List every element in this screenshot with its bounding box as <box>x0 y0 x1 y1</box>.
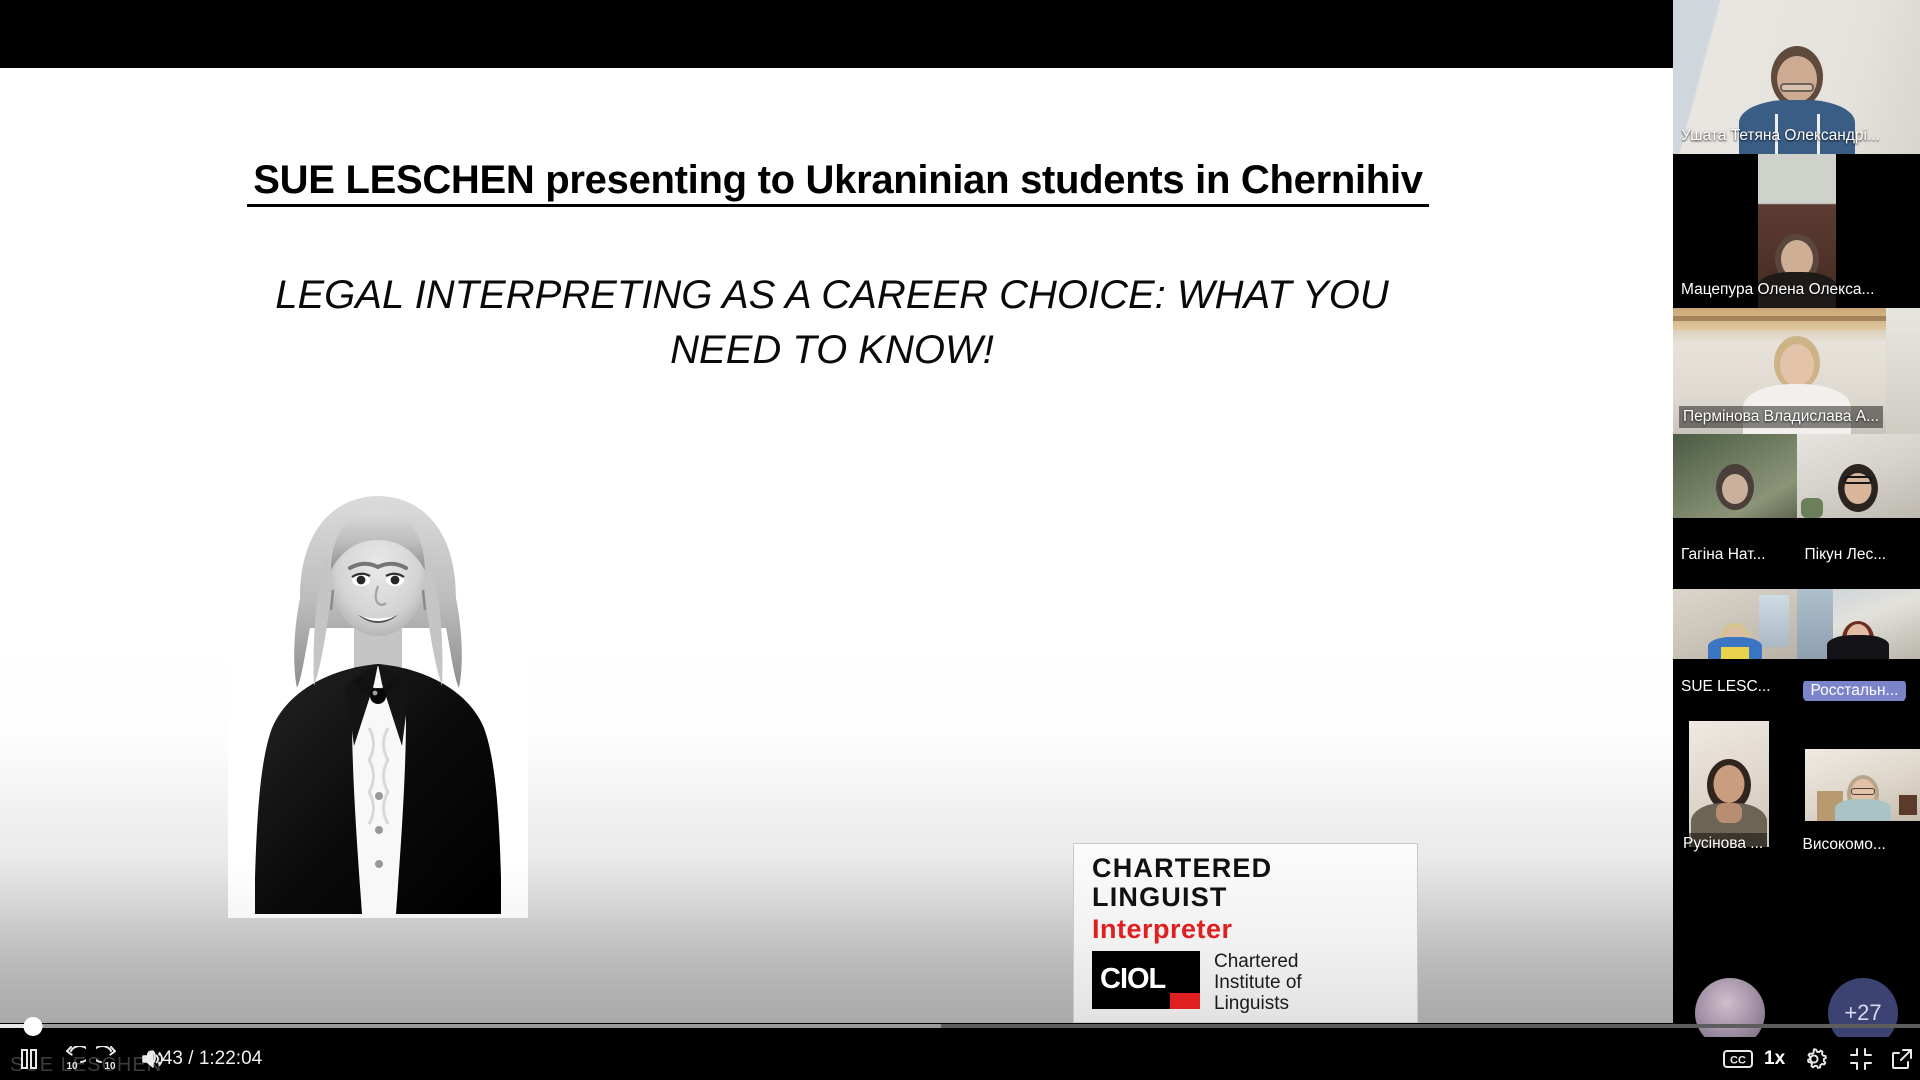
participant-tile-2[interactable]: Мацепура Олена Олекса... <box>1673 154 1920 308</box>
participant-name-5a: SUE LESC... <box>1681 677 1771 697</box>
ciol-mark-block: CIOL Chartered Institute of Linguists <box>1092 951 1399 1014</box>
slide-title-underline <box>247 204 1429 207</box>
participant-tile-5[interactable]: SUE LESC... Росстальн... <box>1673 589 1920 717</box>
participant-name-4a: Гагіна Нат... <box>1681 545 1766 565</box>
ciol-line-2: LINGUIST <box>1092 883 1399 912</box>
slide-subtitle: LEGAL INTERPRETING AS A CAREER CHOICE: W… <box>232 268 1432 378</box>
participant-video-5b[interactable]: Росстальн... <box>1797 589 1920 717</box>
participant-tile-1[interactable]: Ушата Тетяна Олександрі... <box>1673 0 1920 154</box>
svg-text:10: 10 <box>104 1061 116 1072</box>
presentation-slide: SUE LESCHEN presenting to Ukraninian stu… <box>0 68 1673 1023</box>
participant-name-3: Пермінова Владислава А... <box>1679 406 1883 428</box>
ciol-chartered-linguist-logo: CHARTERED LINGUIST Interpreter CIOL Char… <box>1073 843 1418 1023</box>
ciol-logomark-text: CIOL <box>1100 963 1165 996</box>
ciol-org-line-2: Institute of <box>1214 972 1302 993</box>
player-control-bar: SUE LESCHEN 10 10 <box>0 1037 1920 1080</box>
participant-tile-6[interactable]: Русінова ... Високомо... <box>1673 717 1920 875</box>
ciol-red-square <box>1170 993 1200 1009</box>
participant-name-4b: Пікун Лес... <box>1805 545 1887 565</box>
rewind-10-icon[interactable]: 10 <box>58 1046 86 1072</box>
participant-tile-4[interactable]: Гагіна Нат... Пікун Лес... <box>1673 434 1920 589</box>
active-speaker-badge: Росстальн... <box>1803 681 1907 701</box>
seek-bar-buffer <box>0 1024 941 1028</box>
playback-speed-button[interactable]: 1x <box>1764 1048 1785 1070</box>
participant-name-1: Ушата Тетяна Олександрі... <box>1681 126 1880 146</box>
forward-10-icon[interactable]: 10 <box>96 1046 124 1072</box>
participant-video-5a[interactable]: SUE LESC... <box>1673 589 1797 717</box>
time-display: 0:43 / 1:22:04 <box>146 1048 262 1070</box>
participant-name-5b-wrapper: Росстальн... <box>1803 681 1907 701</box>
participant-video-4b[interactable]: Пікун Лес... <box>1797 434 1920 589</box>
participant-name-6b: Високомо... <box>1803 835 1886 855</box>
slide-title: SUE LESCHEN presenting to Ukraninian stu… <box>248 158 1428 203</box>
ciol-qualification: Interpreter <box>1092 914 1399 944</box>
ciol-org-line-1: Chartered <box>1214 951 1302 972</box>
pause-button[interactable] <box>18 1047 40 1071</box>
svg-text:CC: CC <box>1730 1054 1746 1066</box>
gear-icon[interactable] <box>1801 1046 1827 1072</box>
video-player-window: SUE LESCHEN presenting to Ukraninian stu… <box>0 0 1920 1080</box>
svg-text:10: 10 <box>66 1061 78 1072</box>
participant-video-4a[interactable]: Гагіна Нат... <box>1673 434 1797 589</box>
participant-name-2: Мацепура Олена Олекса... <box>1681 280 1874 300</box>
speaker-portrait-photo <box>228 478 528 918</box>
ciol-logomark: CIOL <box>1092 951 1200 1009</box>
participant-filmstrip[interactable]: Ушата Тетяна Олександрі... Мацепура Олен… <box>1673 0 1920 1080</box>
seek-bar-handle[interactable] <box>23 1017 42 1036</box>
ciol-line-1: CHARTERED <box>1092 854 1399 883</box>
ciol-org-name: Chartered Institute of Linguists <box>1214 951 1302 1014</box>
ciol-org-line-3: Linguists <box>1214 993 1302 1014</box>
closed-captions-icon[interactable]: CC <box>1723 1048 1753 1070</box>
participant-video-6a[interactable]: Русінова ... <box>1673 717 1797 875</box>
exit-fullscreen-icon[interactable] <box>1849 1047 1873 1071</box>
seek-bar[interactable] <box>0 1015 1920 1037</box>
participant-tile-3[interactable]: Пермінова Владислава А... <box>1673 308 1920 434</box>
video-viewport[interactable]: SUE LESCHEN presenting to Ukraninian stu… <box>0 0 1673 1080</box>
popout-icon[interactable] <box>1890 1047 1914 1071</box>
participant-name-6a: Русінова ... <box>1679 833 1767 855</box>
participant-video-6b[interactable]: Високомо... <box>1797 717 1920 875</box>
